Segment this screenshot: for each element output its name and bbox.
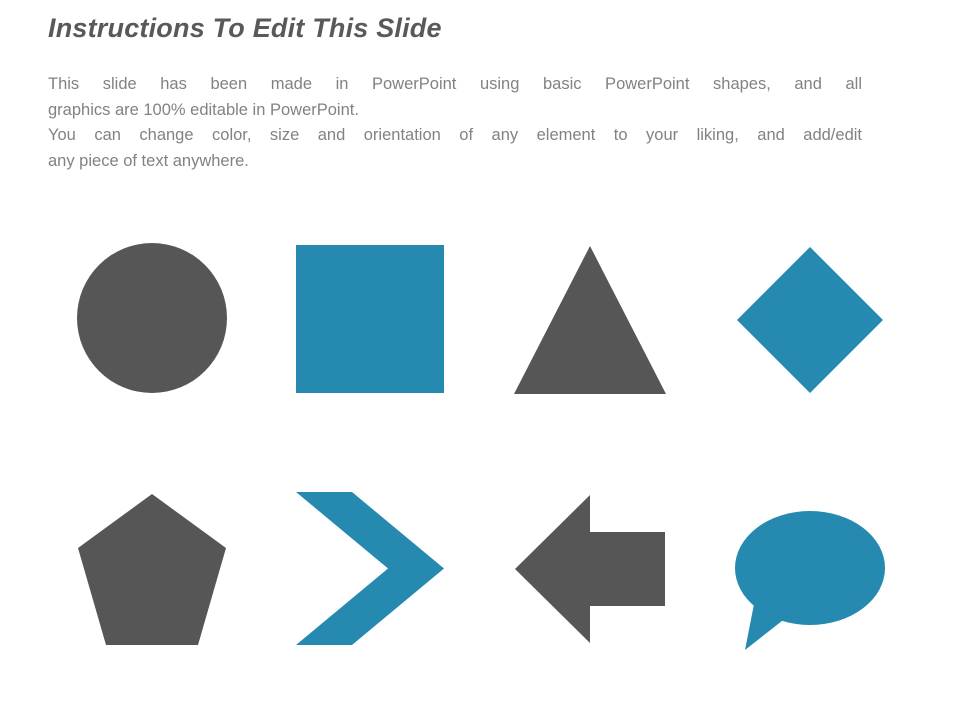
shape-circle[interactable] — [77, 243, 227, 393]
shape-left-arrow[interactable] — [515, 495, 665, 643]
shape-speech-bubble[interactable] — [735, 511, 885, 650]
speech-bubble-icon — [735, 511, 885, 650]
body-line-2: graphics are 100% editable in PowerPoint… — [48, 98, 862, 124]
page-title: Instructions To Edit This Slide — [48, 12, 908, 46]
body-text-block: This slide has been made in PowerPoint u… — [48, 72, 862, 174]
circle-icon — [77, 243, 227, 393]
chevron-arrow-icon — [296, 492, 444, 645]
shape-triangle[interactable] — [514, 246, 666, 394]
body-line-4: any piece of text anywhere. — [48, 149, 862, 175]
diamond-icon — [737, 247, 883, 393]
shape-chevron-arrow[interactable] — [296, 492, 444, 645]
slide-canvas: Instructions To Edit This Slide This sli… — [0, 0, 960, 720]
left-arrow-icon — [515, 495, 665, 643]
shape-square[interactable] — [296, 245, 444, 393]
body-line-1: This slide has been made in PowerPoint u… — [48, 72, 862, 98]
square-icon — [296, 245, 444, 393]
pentagon-icon — [78, 494, 226, 645]
body-line-3: You can change color, size and orientati… — [48, 123, 862, 149]
triangle-icon — [514, 246, 666, 394]
shape-diamond[interactable] — [737, 247, 883, 393]
shape-pentagon[interactable] — [78, 494, 226, 645]
